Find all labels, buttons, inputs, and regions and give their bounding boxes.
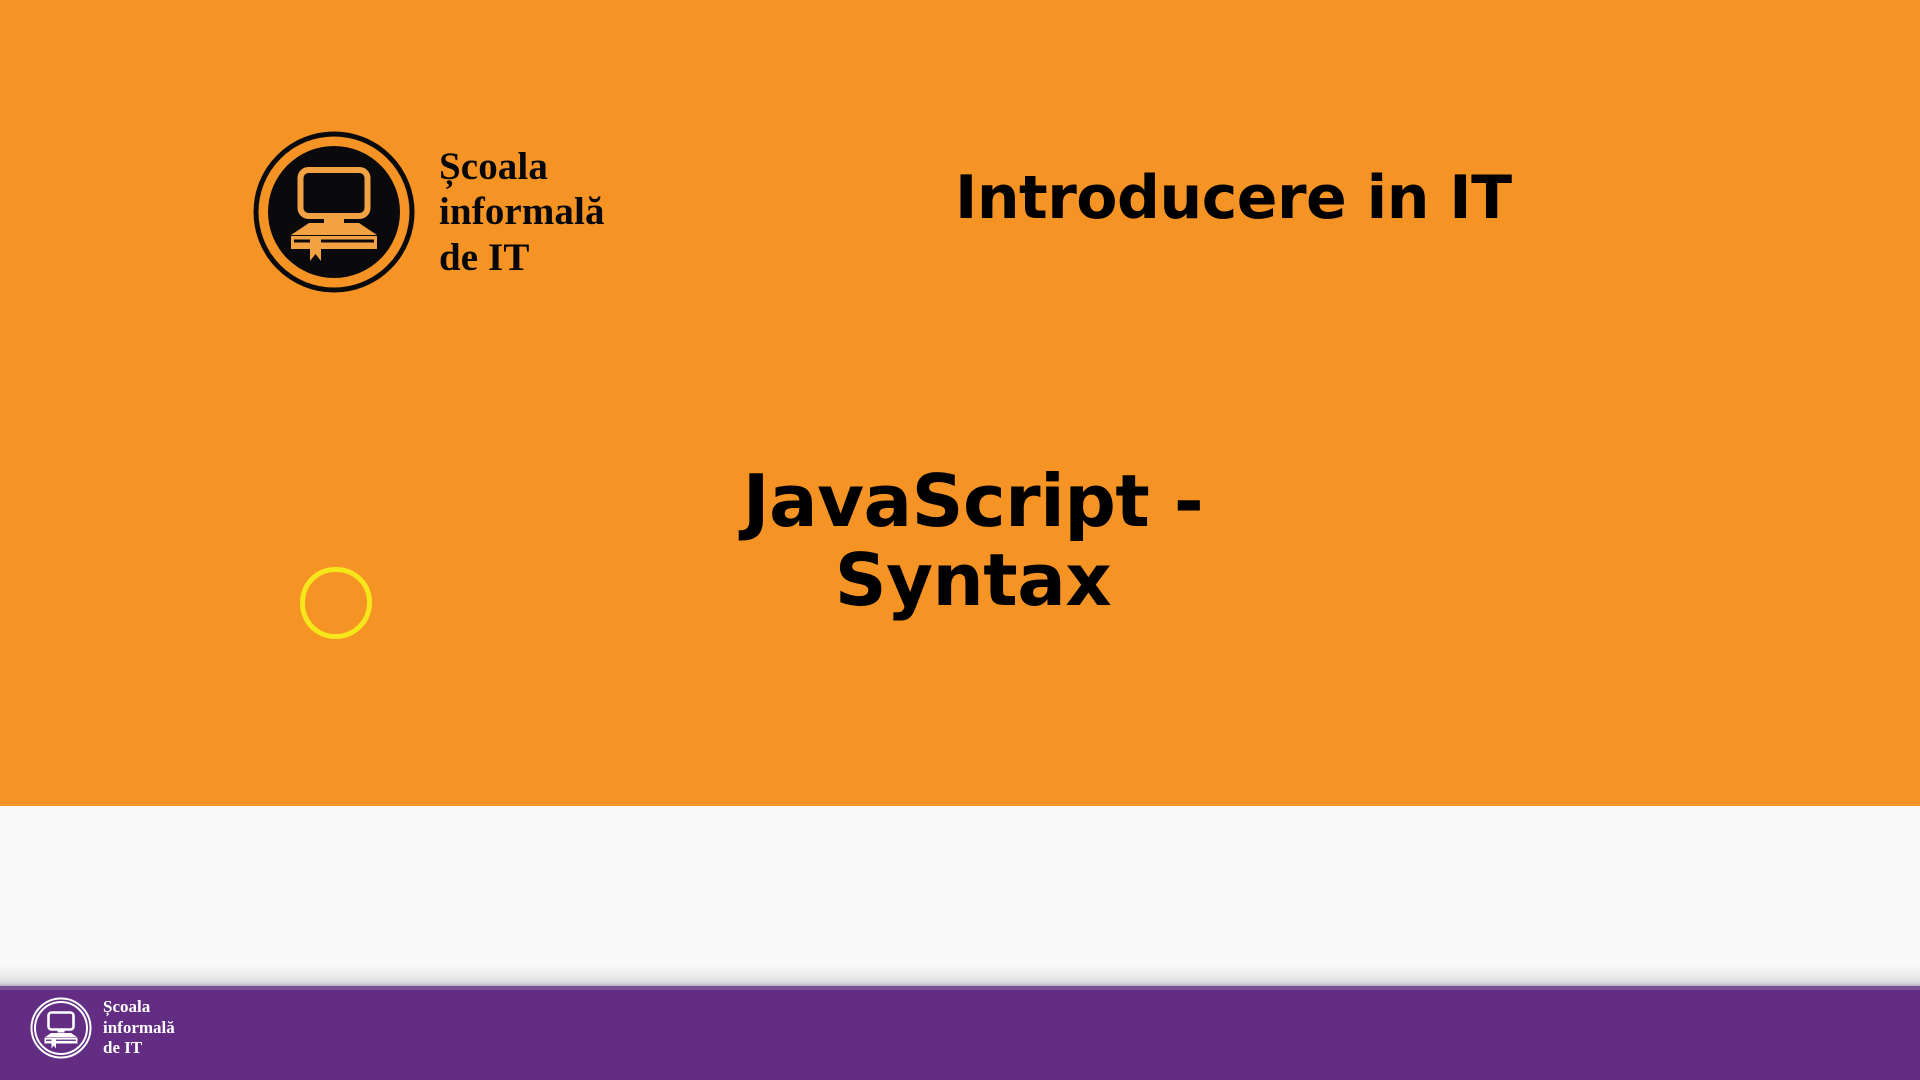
course-title: Introducere in IT [955,165,1655,231]
presentation-slide: Școala informală de IT Introducere in IT… [0,0,1920,1080]
divider [0,964,1920,986]
footer-top-hairline [0,986,1920,990]
laptop-on-book-circle-logo-icon [253,131,415,293]
slide-body-area [0,806,1920,986]
brand-lockup: Școala informală de IT [253,131,605,293]
footer-brand-wordmark: Școala informală de IT [103,997,175,1059]
footer-laptop-on-book-circle-logo-icon [29,996,93,1060]
brand-wordmark: Școala informală de IT [439,144,605,281]
hero-section: Școala informală de IT Introducere in IT… [0,0,1920,806]
slide-heading: JavaScript - Syntax [593,462,1353,620]
hand-drawn-circle-annotation-icon [299,566,373,640]
slide-footer: Școala informală de IT Blended Learning … [0,986,1920,1080]
footer-brand-lockup: Școala informală de IT [29,996,175,1060]
